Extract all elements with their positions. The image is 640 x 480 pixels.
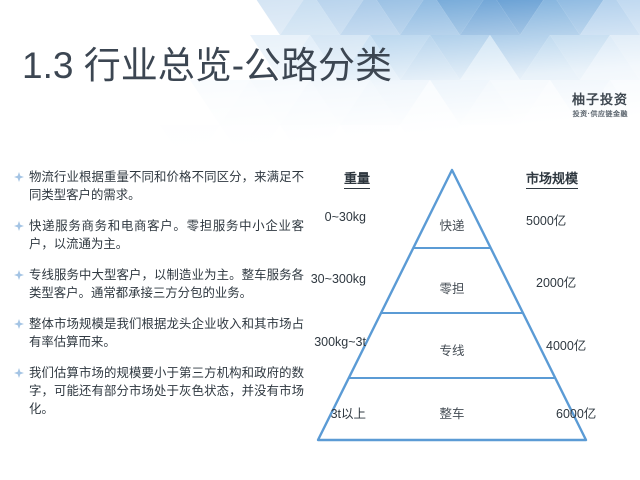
pyramid-tier-label: 快递 [412, 215, 492, 234]
brand-logo: 柚子投资 投资·供应链金融 [572, 92, 628, 120]
weight-value: 300kg~3t [314, 335, 366, 349]
diamond-bullet-icon [14, 364, 29, 378]
market-size-value: 4000亿 [546, 335, 586, 354]
weight-value: 0~30kg [325, 210, 366, 224]
slide-canvas: 1.3 行业总览-公路分类 柚子投资 投资·供应链金融 物流行业根据重量不同和价… [0, 0, 640, 480]
page-title: 1.3 行业总览-公路分类 [22, 44, 392, 88]
weight-value: 30~300kg [311, 272, 366, 286]
brand-tagline: 投资·供应链金融 [572, 109, 628, 120]
diamond-bullet-icon [14, 315, 29, 329]
diamond-bullet-icon [14, 266, 29, 280]
pyramid-chart: 重量 市场规模 快递 零担 专线 整车 0~30kg 30~300kg 300k… [255, 160, 640, 460]
brand-name: 柚子投资 [572, 92, 628, 108]
pyramid-tier-label: 零担 [412, 278, 492, 297]
column-header-market-size: 市场规模 [526, 168, 578, 189]
market-size-value: 6000亿 [556, 403, 596, 422]
weight-value: 3t以上 [331, 403, 366, 422]
pyramid-tier-label: 专线 [412, 340, 492, 359]
market-size-value: 2000亿 [536, 272, 576, 291]
column-header-weight: 重量 [344, 168, 370, 189]
market-size-value: 5000亿 [526, 210, 566, 229]
pyramid-tier-label: 整车 [412, 403, 492, 422]
diamond-bullet-icon [14, 217, 29, 231]
diamond-bullet-icon [14, 168, 29, 182]
